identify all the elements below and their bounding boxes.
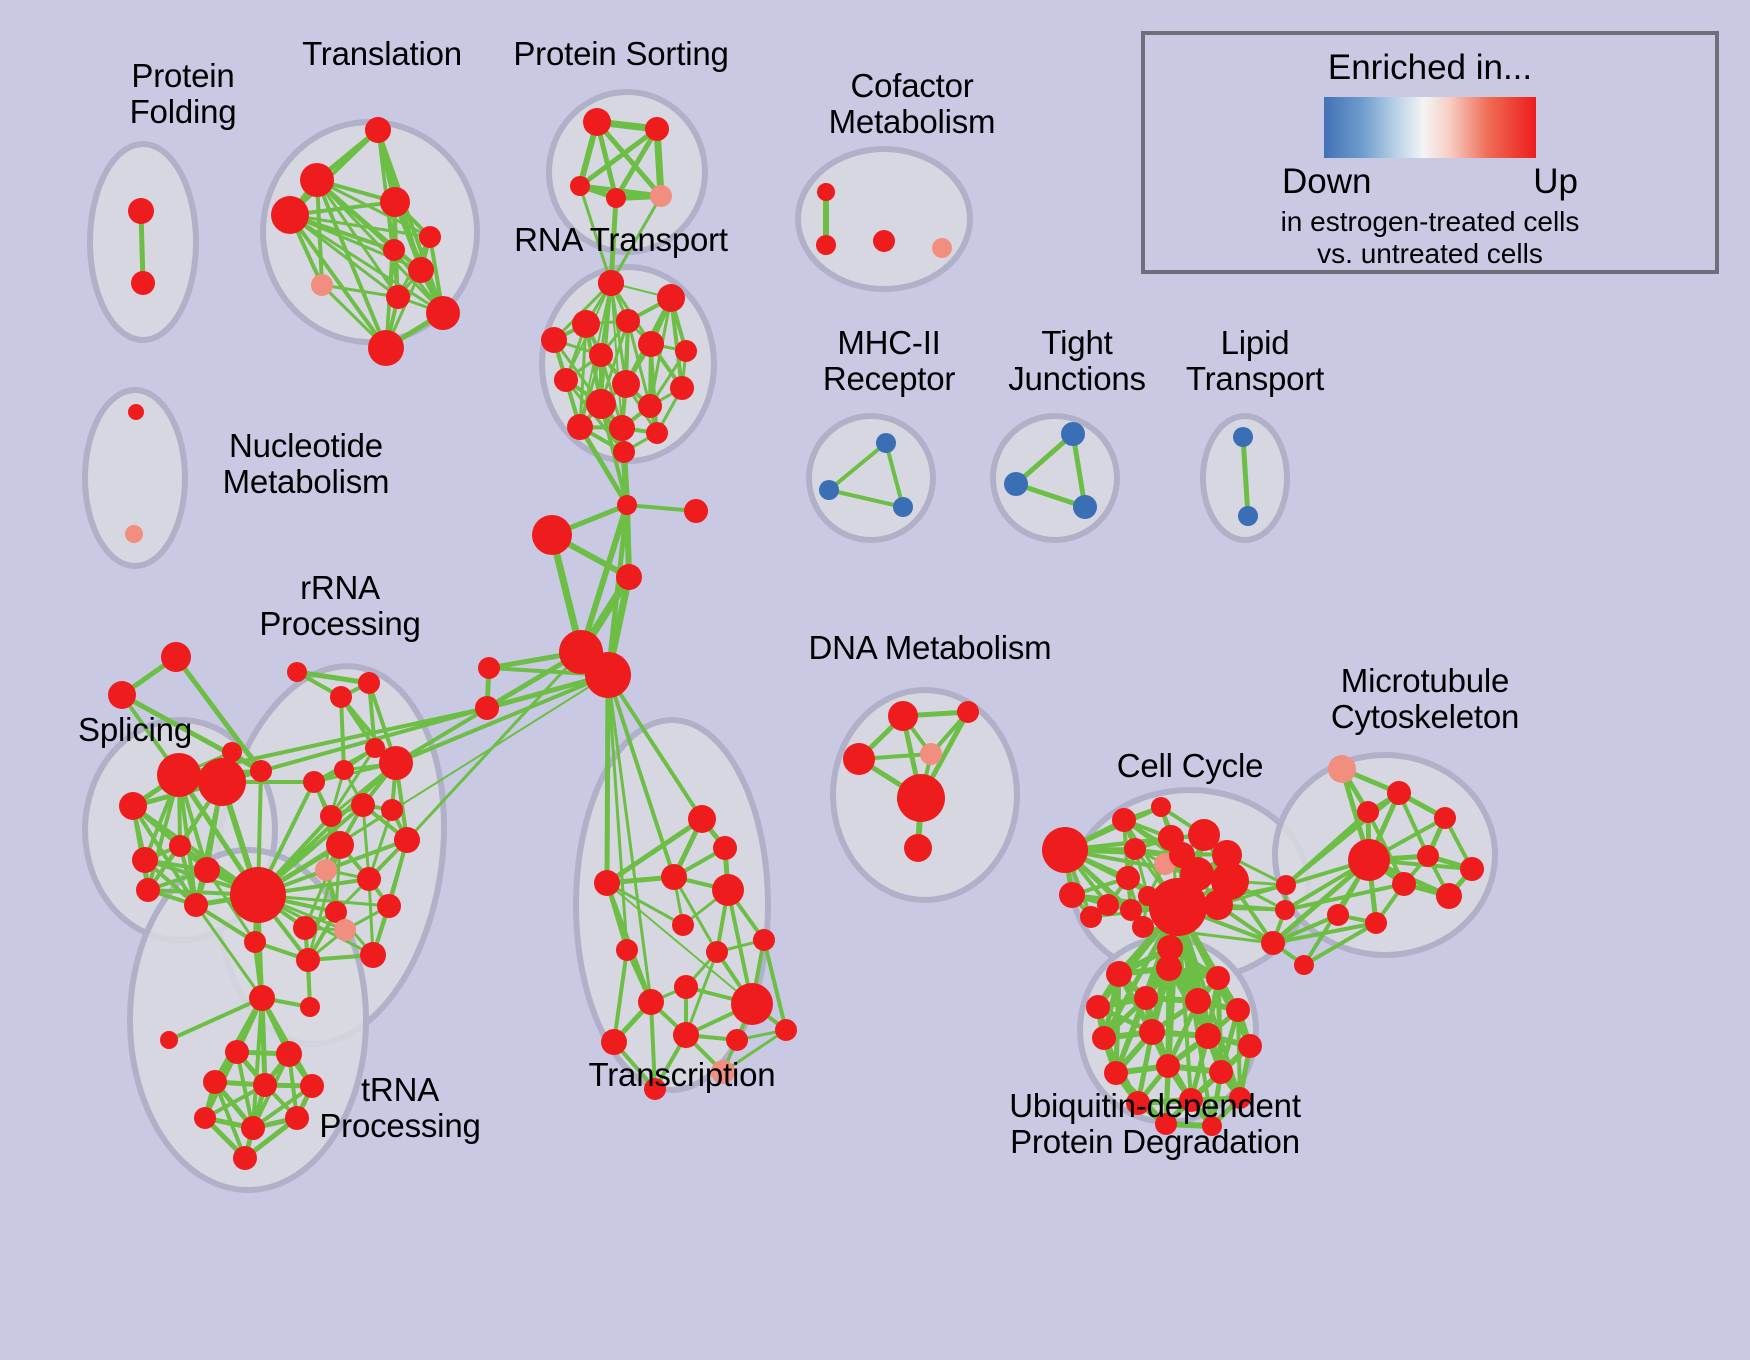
network-node[interactable] — [131, 271, 155, 295]
network-node[interactable] — [688, 805, 716, 833]
network-node[interactable] — [1106, 961, 1132, 987]
network-node[interactable] — [132, 847, 158, 873]
network-node[interactable] — [1185, 988, 1211, 1014]
network-node[interactable] — [225, 1040, 249, 1064]
network-node[interactable] — [713, 836, 737, 860]
network-node[interactable] — [1357, 801, 1379, 823]
network-node[interactable] — [161, 642, 191, 672]
network-node[interactable] — [253, 1073, 277, 1097]
network-node[interactable] — [136, 878, 160, 902]
network-node[interactable] — [1460, 857, 1484, 881]
network-node[interactable] — [712, 874, 744, 906]
network-node[interactable] — [672, 914, 694, 936]
network-node[interactable] — [1092, 1026, 1116, 1050]
network-node[interactable] — [616, 309, 640, 333]
network-node[interactable] — [157, 753, 201, 797]
network-node[interactable] — [368, 330, 404, 366]
network-node[interactable] — [644, 1078, 666, 1100]
network-node[interactable] — [285, 1106, 309, 1130]
network-node[interactable] — [1138, 886, 1158, 906]
network-node[interactable] — [394, 827, 420, 853]
network-node[interactable] — [408, 257, 434, 283]
network-node[interactable] — [876, 433, 896, 453]
network-node[interactable] — [326, 831, 354, 859]
network-node[interactable] — [1238, 1034, 1262, 1058]
network-node[interactable] — [184, 893, 208, 917]
network-node[interactable] — [276, 1041, 302, 1067]
network-node[interactable] — [303, 771, 325, 793]
network-node[interactable] — [897, 774, 945, 822]
network-node[interactable] — [1104, 1061, 1128, 1085]
network-node[interactable] — [616, 564, 642, 590]
network-node[interactable] — [1348, 839, 1390, 881]
network-node[interactable] — [203, 1070, 227, 1094]
network-node[interactable] — [920, 743, 942, 765]
network-node[interactable] — [1229, 1087, 1251, 1109]
network-node[interactable] — [1126, 1091, 1150, 1115]
network-node[interactable] — [570, 176, 590, 196]
legend-high-label: Up — [1533, 162, 1578, 202]
legend-panel: Enriched in... Down Up in estrogen-treat… — [1141, 31, 1719, 274]
network-node[interactable] — [1134, 986, 1158, 1010]
network-node[interactable] — [198, 758, 246, 806]
network-node[interactable] — [1328, 755, 1356, 783]
network-node[interactable] — [1294, 955, 1314, 975]
network-node[interactable] — [478, 657, 500, 679]
network-node[interactable] — [334, 760, 354, 780]
network-node[interactable] — [645, 117, 669, 141]
network-node[interactable] — [475, 696, 499, 720]
network-node[interactable] — [650, 185, 672, 207]
network-node[interactable] — [598, 270, 624, 296]
network-node[interactable] — [1434, 807, 1456, 829]
network-node[interactable] — [128, 198, 154, 224]
network-node[interactable] — [726, 1029, 748, 1051]
network-node[interactable] — [670, 376, 694, 400]
network-node[interactable] — [230, 867, 286, 923]
network-node[interactable] — [1139, 1019, 1165, 1045]
network-node[interactable] — [873, 230, 895, 252]
network-node[interactable] — [585, 652, 631, 698]
network-node[interactable] — [383, 239, 405, 261]
network-node[interactable] — [684, 499, 708, 523]
network-node[interactable] — [1327, 904, 1349, 926]
network-node[interactable] — [365, 117, 391, 143]
network-node[interactable] — [386, 285, 410, 309]
network-node[interactable] — [119, 792, 147, 820]
network-node[interactable] — [1124, 838, 1146, 860]
network-node[interactable] — [249, 985, 275, 1011]
network-node[interactable] — [381, 799, 403, 821]
network-node[interactable] — [250, 760, 272, 782]
network-node[interactable] — [1226, 998, 1250, 1022]
network-node[interactable] — [1238, 506, 1258, 526]
network-node[interactable] — [300, 163, 334, 197]
network-node[interactable] — [296, 948, 320, 972]
cluster-ellipse-mhc-ii-receptor — [809, 416, 933, 540]
network-node[interactable] — [241, 1116, 265, 1140]
network-node[interactable] — [419, 226, 441, 248]
network-node[interactable] — [601, 1029, 627, 1055]
network-node[interactable] — [108, 681, 136, 709]
legend-caption-line2: vs. untreated cells — [1317, 238, 1543, 270]
network-node[interactable] — [583, 108, 611, 136]
network-node[interactable] — [843, 743, 875, 775]
legend-caption-line1: in estrogen-treated cells — [1281, 206, 1580, 238]
enrichment-network-figure: Protein FoldingTranslationProtein Sortin… — [0, 0, 1750, 1360]
network-node[interactable] — [1206, 966, 1230, 990]
network-node[interactable] — [532, 515, 572, 555]
network-node[interactable] — [311, 274, 333, 296]
legend-low-label: Down — [1282, 162, 1371, 202]
network-node[interactable] — [351, 793, 375, 817]
network-node[interactable] — [541, 327, 567, 353]
network-node[interactable] — [293, 916, 317, 940]
network-node[interactable] — [657, 284, 685, 312]
network-node[interactable] — [1080, 906, 1102, 928]
network-node[interactable] — [1365, 912, 1387, 934]
network-node[interactable] — [661, 864, 687, 890]
network-node[interactable] — [1276, 875, 1296, 895]
network-node[interactable] — [567, 414, 593, 440]
network-node[interactable] — [617, 495, 637, 515]
network-node[interactable] — [646, 422, 668, 444]
network-node[interactable] — [1436, 883, 1462, 909]
network-node[interactable] — [612, 370, 640, 398]
network-node[interactable] — [1086, 995, 1110, 1019]
network-node[interactable] — [888, 701, 918, 731]
network-node[interactable] — [731, 983, 773, 1025]
network-node[interactable] — [194, 1107, 216, 1129]
network-node[interactable] — [1261, 931, 1285, 955]
network-node[interactable] — [426, 296, 460, 330]
network-node[interactable] — [1156, 1054, 1180, 1078]
network-node[interactable] — [932, 238, 952, 258]
network-node[interactable] — [1155, 1113, 1177, 1135]
network-node[interactable] — [1180, 857, 1214, 891]
network-node[interactable] — [753, 929, 775, 951]
network-node[interactable] — [1132, 916, 1154, 938]
network-node[interactable] — [358, 672, 380, 694]
network-node[interactable] — [1195, 1023, 1221, 1049]
network-node[interactable] — [586, 389, 616, 419]
network-node[interactable] — [377, 894, 401, 918]
network-node[interactable] — [572, 310, 600, 338]
network-node[interactable] — [287, 662, 307, 682]
network-node[interactable] — [673, 1022, 699, 1048]
network-node[interactable] — [125, 525, 143, 543]
network-node[interactable] — [128, 404, 144, 420]
network-node[interactable] — [1151, 797, 1171, 817]
network-edge — [607, 675, 608, 883]
network-node[interactable] — [904, 834, 932, 862]
network-node[interactable] — [360, 942, 386, 968]
network-node[interactable] — [706, 941, 728, 963]
network-node[interactable] — [893, 497, 913, 517]
network-node[interactable] — [613, 441, 635, 463]
network-edge — [1168, 968, 1169, 1066]
network-node[interactable] — [233, 1146, 257, 1170]
network-node[interactable] — [1112, 808, 1136, 832]
network-node[interactable] — [1233, 427, 1253, 447]
network-node[interactable] — [616, 939, 638, 961]
network-node[interactable] — [169, 835, 191, 857]
network-node[interactable] — [674, 975, 698, 999]
network-node[interactable] — [300, 1074, 324, 1098]
network-node[interactable] — [1209, 1060, 1233, 1084]
network-node[interactable] — [244, 931, 266, 953]
network-node[interactable] — [380, 187, 410, 217]
network-node[interactable] — [1203, 890, 1233, 920]
network-node[interactable] — [194, 857, 220, 883]
network-node[interactable] — [957, 701, 979, 723]
network-node[interactable] — [606, 188, 626, 208]
network-node[interactable] — [357, 867, 381, 891]
network-node[interactable] — [775, 1019, 797, 1041]
network-node[interactable] — [379, 746, 413, 780]
network-node[interactable] — [554, 368, 578, 392]
network-node[interactable] — [1417, 845, 1439, 867]
network-node[interactable] — [1042, 827, 1088, 873]
network-node[interactable] — [638, 989, 664, 1015]
network-node[interactable] — [594, 870, 620, 896]
network-node[interactable] — [817, 183, 835, 201]
color-ramp-gradient — [1324, 97, 1536, 158]
network-node[interactable] — [315, 859, 337, 881]
network-node[interactable] — [1387, 781, 1411, 805]
color-ramp-labels: Down Up — [1282, 162, 1578, 202]
network-node[interactable] — [675, 340, 697, 362]
network-node[interactable] — [271, 196, 309, 234]
network-node[interactable] — [711, 1060, 735, 1084]
cluster-ellipse-protein-sorting — [549, 92, 705, 252]
network-node[interactable] — [160, 1031, 178, 1049]
network-node[interactable] — [334, 919, 356, 941]
network-node[interactable] — [638, 394, 662, 418]
network-node[interactable] — [1179, 1088, 1203, 1112]
legend-title: Enriched in... — [1328, 48, 1532, 88]
network-node[interactable] — [609, 415, 635, 441]
network-node[interactable] — [1116, 866, 1140, 890]
network-node[interactable] — [1004, 472, 1028, 496]
network-node[interactable] — [1073, 495, 1097, 519]
network-node[interactable] — [1061, 422, 1085, 446]
network-node[interactable] — [1156, 955, 1182, 981]
network-node[interactable] — [1059, 882, 1085, 908]
network-node[interactable] — [320, 805, 342, 827]
network-node[interactable] — [1202, 1116, 1222, 1136]
network-node[interactable] — [1275, 900, 1295, 920]
network-node[interactable] — [300, 997, 320, 1017]
network-node[interactable] — [816, 235, 836, 255]
network-node[interactable] — [1392, 872, 1416, 896]
network-node[interactable] — [819, 480, 839, 500]
network-node[interactable] — [330, 686, 352, 708]
network-node[interactable] — [638, 331, 664, 357]
network-node[interactable] — [589, 343, 613, 367]
